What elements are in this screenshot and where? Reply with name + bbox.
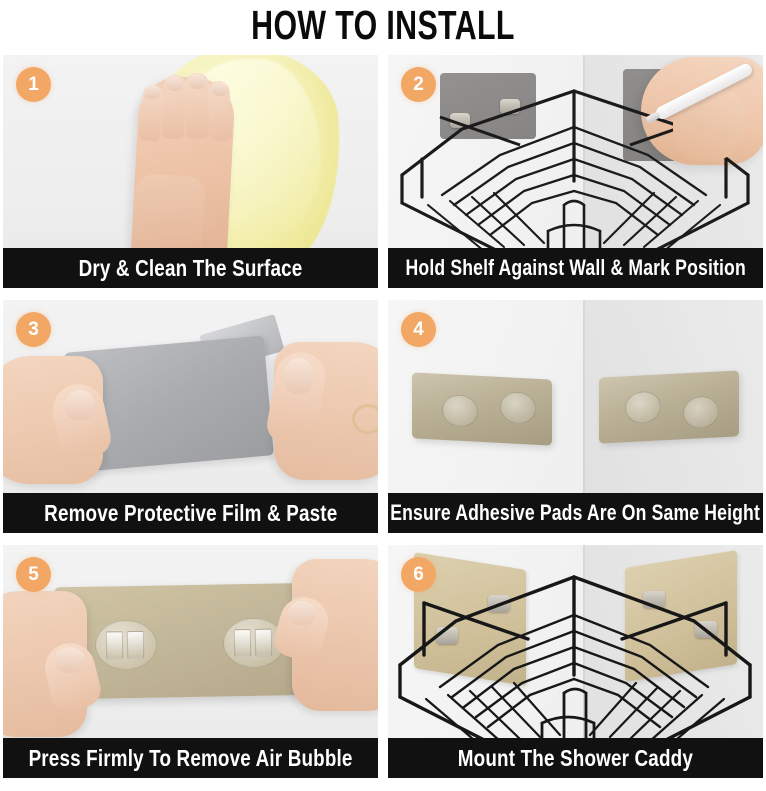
pad-clip-boss (625, 390, 661, 424)
step-panel-1: 1 Dry & Clean The Surface (3, 55, 378, 288)
pad-clip-boss (95, 620, 158, 671)
step-caption-bar: Hold Shelf Against Wall & Mark Position (388, 248, 763, 288)
clip-slot (255, 629, 272, 657)
page-title: HOW TO INSTALL (100, 0, 667, 52)
clip-slot (127, 631, 144, 659)
left-thumbnail (55, 647, 85, 673)
step-caption-bar: Dry & Clean The Surface (3, 248, 378, 288)
fingernail (212, 82, 228, 96)
step-panel-4: 4 Ensure Adhesive Pads Are On Same Heigh… (388, 300, 763, 533)
step-caption-bar: Mount The Shower Caddy (388, 738, 763, 778)
step-panel-5: 5 Press Firmly To Remove Air Bubble (3, 545, 378, 778)
step-caption-text: Press Firmly To Remove Air Bubble (28, 745, 352, 772)
how-to-install-infographic: HOW TO INSTALL 1 Dry & Clean The (0, 0, 766, 791)
step-caption-bar: Remove Protective Film & Paste (3, 493, 378, 533)
step-panel-2: 2 Hold Shelf Against Wall & Mark Positio… (388, 55, 763, 288)
pad-clip-boss (500, 391, 536, 425)
left-thumbnail (65, 390, 95, 420)
step-number-badge: 6 (401, 557, 436, 592)
fingernail (144, 85, 160, 99)
adhesive-pad-right (599, 370, 739, 443)
step-caption-text: Dry & Clean The Surface (79, 255, 303, 282)
adhesive-pad-left (412, 372, 552, 445)
fingernail (189, 74, 206, 89)
step-number-badge: 5 (16, 557, 51, 592)
step-number-badge: 1 (16, 67, 51, 102)
right-thumbnail (284, 358, 314, 394)
steps-grid: 1 Dry & Clean The Surface (3, 55, 763, 778)
right-thumbnail (288, 601, 316, 625)
step-number-badge: 3 (16, 312, 51, 347)
step-caption-text: Mount The Shower Caddy (458, 745, 693, 772)
step-caption-text: Remove Protective Film & Paste (44, 500, 337, 527)
step-panel-3: 3 Remove Protective Film & Paste (3, 300, 378, 533)
step-number-badge: 4 (401, 312, 436, 347)
step-number-badge: 2 (401, 67, 436, 102)
step-panel-6: 6 Mount The Shower Caddy (388, 545, 763, 778)
fingernail (166, 76, 183, 91)
clip-slot (106, 631, 123, 659)
clip-slot (234, 629, 251, 657)
ring (352, 404, 378, 434)
step-caption-bar: Press Firmly To Remove Air Bubble (3, 738, 378, 778)
step-caption-text: Hold Shelf Against Wall & Mark Position (405, 255, 745, 281)
step-caption-bar: Ensure Adhesive Pads Are On Same Height (388, 493, 763, 533)
pad-clip-boss (442, 394, 478, 428)
step-caption-text: Ensure Adhesive Pads Are On Same Height (391, 500, 761, 526)
pad-clip-boss (683, 395, 719, 429)
